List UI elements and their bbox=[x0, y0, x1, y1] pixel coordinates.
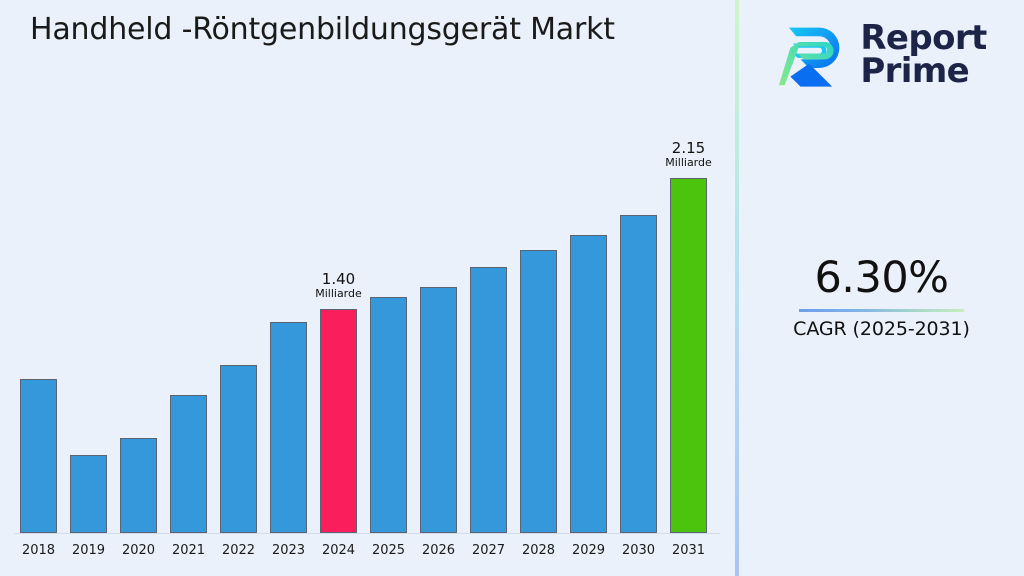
bar-rect-2024[interactable] bbox=[320, 309, 357, 533]
report-prime-logo-icon bbox=[776, 19, 848, 91]
cagr-value: 6.30% bbox=[739, 255, 1024, 302]
bar-rect-2031[interactable] bbox=[670, 178, 707, 533]
x-tick-label-2021: 2021 bbox=[170, 543, 207, 558]
bar-value-number-2031: 2.15 bbox=[665, 140, 712, 157]
bar-value-label-2031: 2.15Milliarde bbox=[665, 140, 712, 170]
cagr-divider-rule bbox=[799, 309, 964, 312]
bar-value-number-2024: 1.40 bbox=[315, 271, 362, 288]
chart-plot-area: 2018201920202021202220231.40Milliarde202… bbox=[0, 0, 737, 576]
cagr-block: 6.30% CAGR (2025-2031) bbox=[739, 255, 1024, 340]
x-tick-label-2028: 2028 bbox=[520, 543, 557, 558]
x-tick-label-2025: 2025 bbox=[370, 543, 407, 558]
bar-rect-2029[interactable] bbox=[570, 235, 607, 533]
x-axis-line bbox=[14, 533, 720, 534]
bar-rect-2027[interactable] bbox=[470, 267, 507, 533]
brand-panel: Report Prime 6.30% CAGR (2025-2031) bbox=[739, 0, 1024, 576]
bar-rect-2030[interactable] bbox=[620, 215, 657, 533]
x-tick-label-2027: 2027 bbox=[470, 543, 507, 558]
x-tick-label-2024: 2024 bbox=[320, 543, 357, 558]
x-tick-label-2020: 2020 bbox=[120, 543, 157, 558]
bar-rect-2023[interactable] bbox=[270, 322, 307, 533]
bar-rect-2018[interactable] bbox=[20, 379, 57, 533]
x-tick-label-2026: 2026 bbox=[420, 543, 457, 558]
bar-value-unit-2024: Milliarde bbox=[315, 288, 362, 301]
bar-rect-2026[interactable] bbox=[420, 287, 457, 533]
brand-name-line-2: Prime bbox=[860, 55, 986, 88]
x-tick-label-2019: 2019 bbox=[70, 543, 107, 558]
bar-rect-2020[interactable] bbox=[120, 438, 157, 533]
brand-logo: Report Prime bbox=[739, 12, 1024, 98]
bar-value-unit-2031: Milliarde bbox=[665, 157, 712, 170]
brand-wordmark: Report Prime bbox=[860, 22, 986, 89]
bar-rect-2019[interactable] bbox=[70, 455, 107, 533]
bar-rect-2028[interactable] bbox=[520, 250, 557, 533]
x-tick-label-2023: 2023 bbox=[270, 543, 307, 558]
x-tick-label-2022: 2022 bbox=[220, 543, 257, 558]
bar-rect-2021[interactable] bbox=[170, 395, 207, 533]
chart-panel: Handheld -Röntgenbildungsgerät Markt 201… bbox=[0, 0, 737, 576]
x-tick-label-2029: 2029 bbox=[570, 543, 607, 558]
x-tick-label-2018: 2018 bbox=[20, 543, 57, 558]
infographic-root: Handheld -Röntgenbildungsgerät Markt 201… bbox=[0, 0, 1024, 576]
x-tick-label-2031: 2031 bbox=[670, 543, 707, 558]
bar-rect-2025[interactable] bbox=[370, 297, 407, 533]
bar-value-label-2024: 1.40Milliarde bbox=[315, 271, 362, 301]
bar-rect-2022[interactable] bbox=[220, 365, 257, 533]
cagr-caption: CAGR (2025-2031) bbox=[739, 318, 1024, 340]
x-tick-label-2030: 2030 bbox=[620, 543, 657, 558]
brand-name-line-1: Report bbox=[860, 22, 986, 55]
